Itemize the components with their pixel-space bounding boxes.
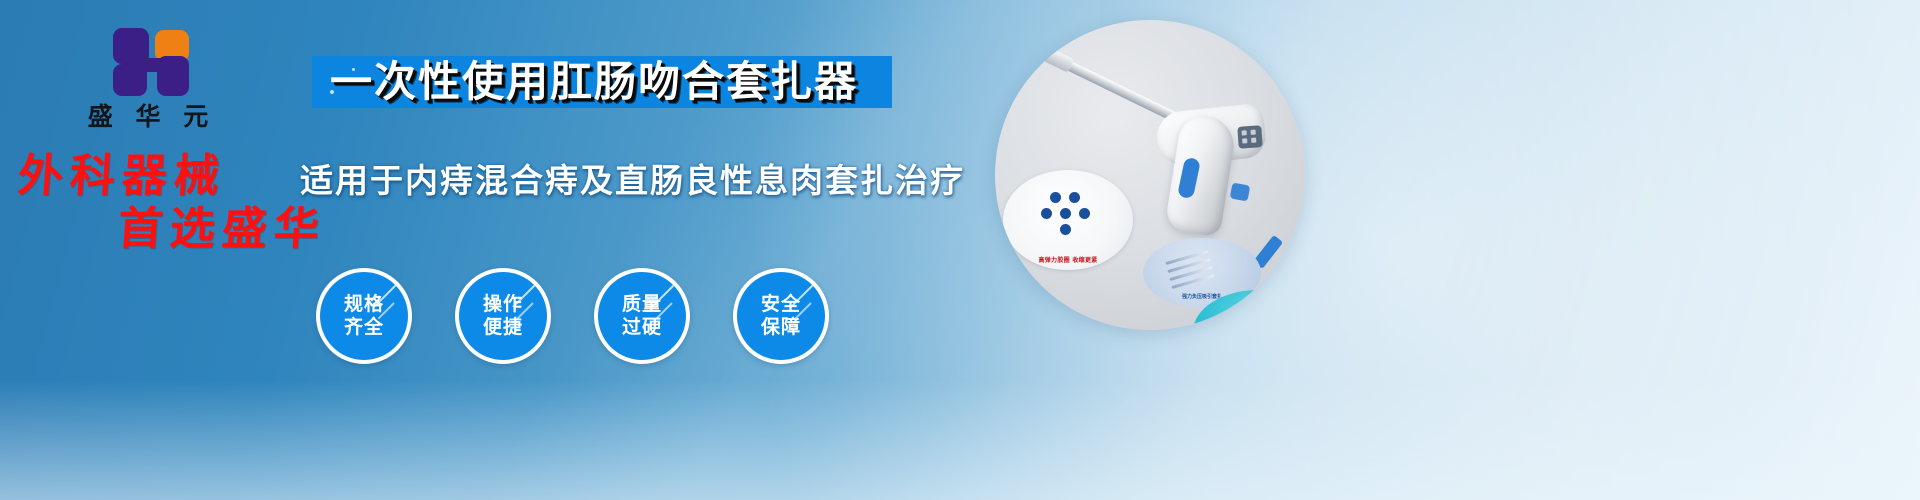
- feature-label-line2: 保障: [761, 316, 801, 339]
- feature-label-line2: 齐全: [344, 316, 384, 339]
- feature-label-line1: 操作: [483, 293, 523, 316]
- feature-label-line1: 质量: [622, 293, 662, 316]
- rings-inset-caption: 高弹力胶圈 收缩更紧: [1003, 255, 1133, 264]
- slogan-line-2: 首选盛华: [116, 205, 349, 252]
- feature-label-line1: 安全: [761, 293, 801, 316]
- feature-label-line2: 便捷: [483, 316, 523, 339]
- page-title: 一次性使用肛肠吻合套扎器: [330, 52, 890, 112]
- brand-logo[interactable]: 盛 华 元: [63, 28, 233, 129]
- device-tip: [1034, 43, 1075, 73]
- feature-circle-guige[interactable]: 规格 齐全: [316, 268, 412, 364]
- promo-banner: 盛 华 元 外科器械 首选盛华 一次性使用肛肠吻合套扎器 适用于内痔混合痔及直肠…: [0, 0, 1920, 500]
- brand-name: 盛 华 元: [63, 104, 233, 129]
- calligraphy-slogan: 外科器械 首选盛华: [18, 152, 348, 253]
- device-keypad: [1237, 125, 1262, 149]
- feature-circle-anquan[interactable]: 安全 保障: [733, 268, 829, 364]
- feature-circle-caozuo[interactable]: 操作 便捷: [455, 268, 551, 364]
- feature-label-line2: 过硬: [622, 316, 662, 339]
- page-subtitle: 适用于内痔混合痔及直肠良性息肉套扎治疗: [300, 158, 920, 204]
- rings-inset: 高弹力胶圈 收缩更紧: [1003, 170, 1133, 270]
- feature-list: 规格 齐全 操作 便捷 质量 过硬 安全 保障: [316, 268, 876, 364]
- product-photo: 高弹力胶圈 收缩更紧 强力负压吸引套扎: [995, 20, 1305, 330]
- bottom-glow: [0, 380, 1920, 500]
- shenghuayuan-logo-icon: [105, 28, 191, 96]
- device-button: [1230, 183, 1251, 202]
- feature-label-line1: 规格: [344, 293, 384, 316]
- feature-circle-zhiliang[interactable]: 质量 过硬: [594, 268, 690, 364]
